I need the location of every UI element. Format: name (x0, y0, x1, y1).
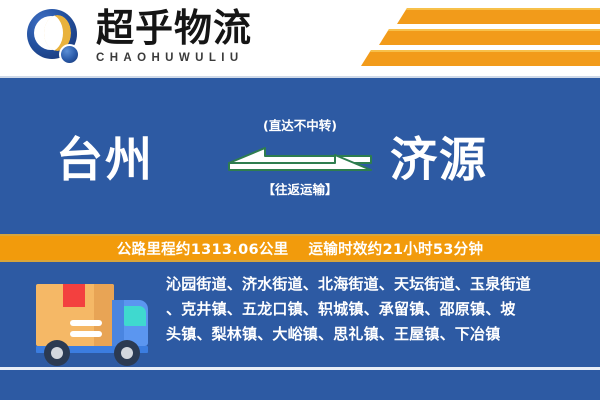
truck-detail-line-1 (70, 320, 102, 326)
delivery-truck-icon (26, 276, 156, 368)
chaohu-logo-icon (27, 9, 85, 67)
ground-line (0, 367, 600, 370)
brand-name-cn: 超乎物流 (96, 7, 311, 49)
distance-text: 公路里程约1313.06公里 (117, 242, 289, 258)
truck-wheel-hub-rear (51, 347, 63, 359)
route-caption-bottom: 【往返运输】 (225, 182, 375, 198)
info-bar-text: 公路里程约1313.06公里运输时效约21小时53分钟 (117, 238, 484, 259)
stripe-1 (397, 8, 600, 24)
truck-window (124, 306, 146, 326)
truck-wheel-front (114, 340, 140, 366)
logo-dot (59, 44, 80, 65)
panel-top-divider (0, 76, 600, 78)
truck-cab-shade (112, 300, 124, 346)
truck-wheel-hub-front (121, 347, 133, 359)
coverage-line: 沁园街道、济水街道、北海街道、天坛街道、玉泉街道 (166, 272, 584, 297)
coverage-line: 头镇、梨林镇、大峪镇、思礼镇、王屋镇、下冶镇 (166, 322, 584, 347)
header-stripes-decoration (330, 0, 600, 76)
route-row: 台州 (直达不中转) 【往返运输】 济源 (0, 106, 600, 226)
brand-block: 超乎物流 CHAOHUWULIU (96, 7, 311, 65)
route-arrow-group: (直达不中转) 【往返运输】 (225, 118, 375, 218)
coverage-line: 、克井镇、五龙口镇、轵城镇、承留镇、邵原镇、坡 (166, 297, 584, 322)
route-caption-top: (直达不中转) (225, 118, 375, 134)
banner-header: 超乎物流 CHAOHUWULIU (0, 0, 600, 76)
coverage-area-list: 沁园街道、济水街道、北海街道、天坛街道、玉泉街道 、克井镇、五龙口镇、轵城镇、承… (166, 272, 584, 347)
logistics-route-banner: 超乎物流 CHAOHUWULIU 台州 (直达不中转) 【往返运输】 (0, 0, 600, 400)
truck-detail-line-2 (70, 331, 102, 337)
route-info-bar: 公路里程约1313.06公里运输时效约21小时53分钟 (0, 234, 600, 262)
origin-city: 台州 (56, 132, 154, 190)
brand-name-en: CHAOHUWULIU (96, 51, 311, 65)
duration-text: 运输时效约21小时53分钟 (308, 242, 483, 258)
bidirectional-arrow-icon (225, 142, 375, 176)
truck-wheel-rear (44, 340, 70, 366)
destination-city: 济源 (390, 132, 488, 190)
stripe-3 (361, 50, 600, 66)
stripe-2 (379, 29, 600, 45)
truck-red-label (63, 284, 85, 307)
main-blue-panel: 台州 (直达不中转) 【往返运输】 济源 公路里程约1313.06公里运输时效约… (0, 76, 600, 400)
